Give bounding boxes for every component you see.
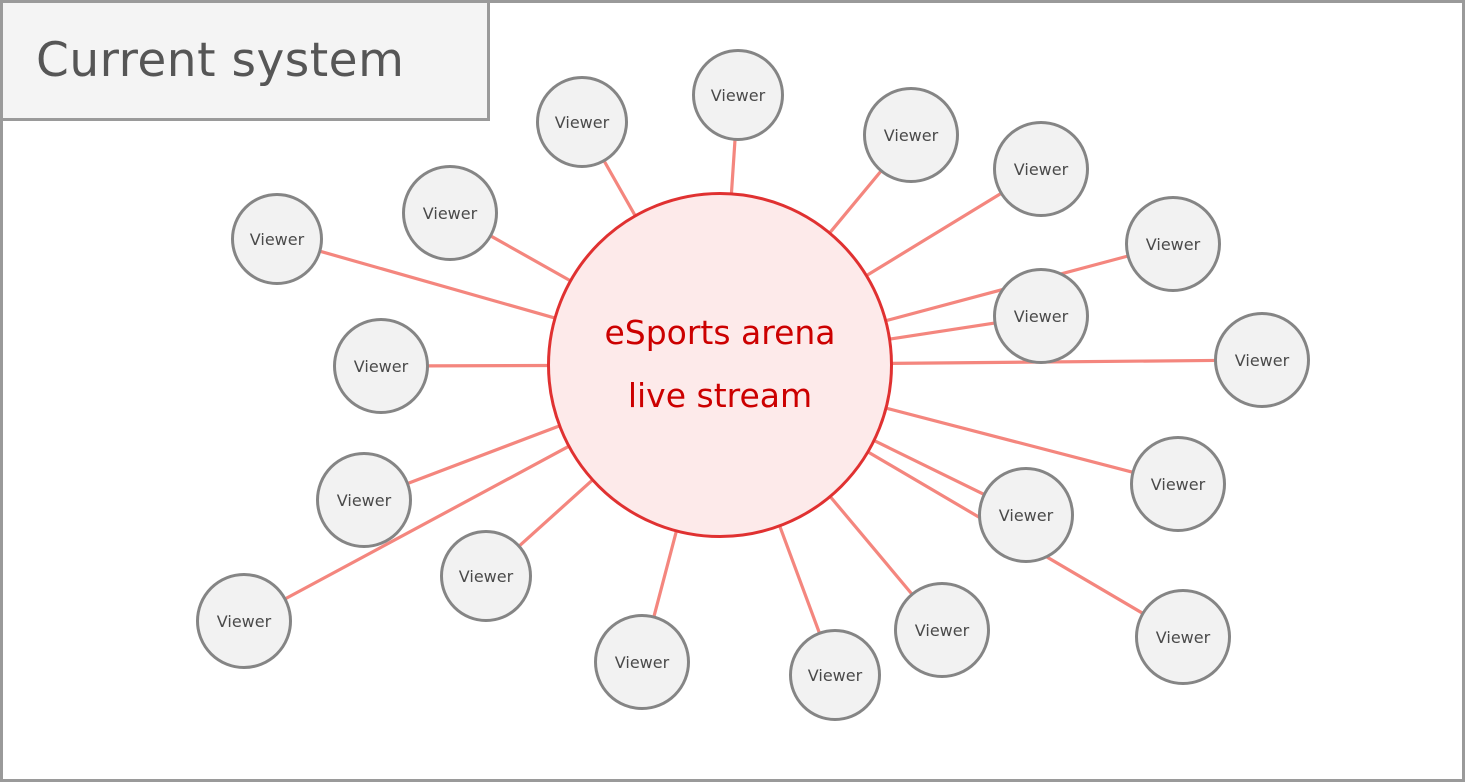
viewer-node-label: Viewer xyxy=(1235,351,1289,370)
viewer-node[interactable]: Viewer xyxy=(863,87,959,183)
viewer-node[interactable]: Viewer xyxy=(536,76,628,168)
viewer-node[interactable]: Viewer xyxy=(402,165,498,261)
viewer-node-label: Viewer xyxy=(459,567,513,586)
viewer-node[interactable]: Viewer xyxy=(993,121,1089,217)
viewer-node-label: Viewer xyxy=(250,230,304,249)
viewer-node[interactable]: Viewer xyxy=(692,49,784,141)
viewer-node[interactable]: Viewer xyxy=(440,530,532,622)
hub-label-line-1: eSports arena xyxy=(604,302,835,365)
viewer-node-label: Viewer xyxy=(217,612,271,631)
viewer-node-label: Viewer xyxy=(1014,307,1068,326)
viewer-node[interactable]: Viewer xyxy=(978,467,1074,563)
viewer-node[interactable]: Viewer xyxy=(1135,589,1231,685)
viewer-node-label: Viewer xyxy=(808,666,862,685)
viewer-node[interactable]: Viewer xyxy=(1130,436,1226,532)
viewer-node[interactable]: Viewer xyxy=(1214,312,1310,408)
diagram-canvas: eSports arenalive streamViewerViewerView… xyxy=(0,0,1465,782)
viewer-node-label: Viewer xyxy=(999,506,1053,525)
viewer-node-label: Viewer xyxy=(1146,235,1200,254)
viewer-node[interactable]: Viewer xyxy=(231,193,323,285)
viewer-node-label: Viewer xyxy=(1151,475,1205,494)
title-box: Current system xyxy=(3,3,490,121)
hub-label-line-2: live stream xyxy=(628,365,812,428)
viewer-node-label: Viewer xyxy=(615,653,669,672)
hub-node-esports-arena-live-stream[interactable]: eSports arenalive stream xyxy=(547,192,893,538)
viewer-node[interactable]: Viewer xyxy=(196,573,292,669)
viewer-node[interactable]: Viewer xyxy=(316,452,412,548)
viewer-node-label: Viewer xyxy=(915,621,969,640)
viewer-node-label: Viewer xyxy=(1156,628,1210,647)
viewer-node-label: Viewer xyxy=(423,204,477,223)
viewer-node[interactable]: Viewer xyxy=(894,582,990,678)
viewer-node-label: Viewer xyxy=(354,357,408,376)
viewer-node[interactable]: Viewer xyxy=(594,614,690,710)
viewer-node[interactable]: Viewer xyxy=(993,268,1089,364)
viewer-node-label: Viewer xyxy=(555,113,609,132)
viewer-node-label: Viewer xyxy=(884,126,938,145)
viewer-node-label: Viewer xyxy=(1014,160,1068,179)
page-title: Current system xyxy=(3,33,404,88)
viewer-node-label: Viewer xyxy=(337,491,391,510)
viewer-node[interactable]: Viewer xyxy=(789,629,881,721)
viewer-node[interactable]: Viewer xyxy=(333,318,429,414)
viewer-node[interactable]: Viewer xyxy=(1125,196,1221,292)
viewer-node-label: Viewer xyxy=(711,86,765,105)
